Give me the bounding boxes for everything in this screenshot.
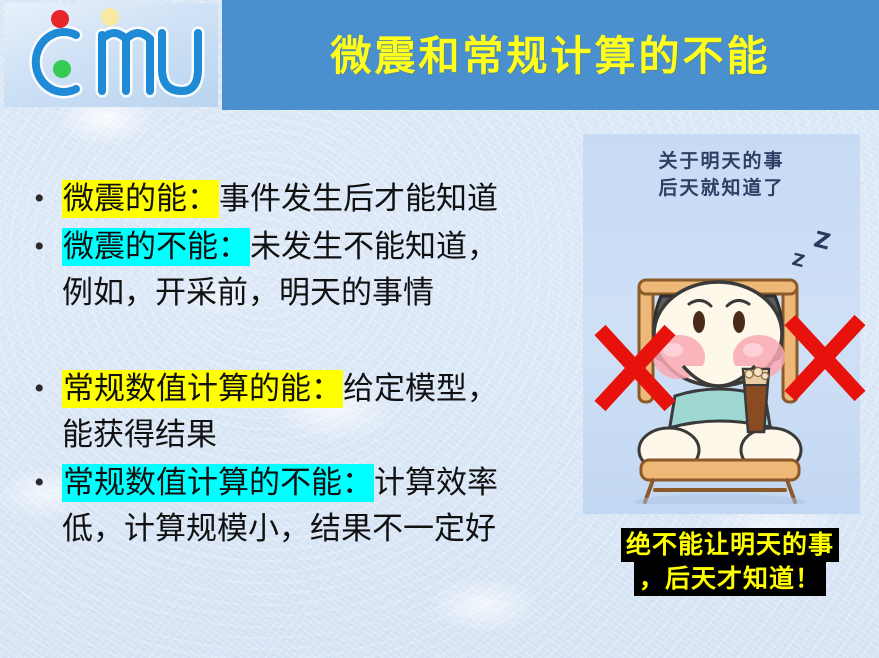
logo-dot-red	[51, 10, 69, 28]
list-item: • 常规数值计算的能：给定模型，能获得结果	[28, 366, 576, 458]
sleepy-dog-illustration	[583, 254, 860, 504]
illustration-caption-line1: 关于明天的事	[583, 148, 860, 175]
chair-shadow	[634, 494, 806, 504]
bullet-label-highlighted: 常规数值计算的能：	[62, 370, 343, 408]
logo-dot-green	[53, 60, 71, 78]
bullet-list: • 微震的能：事件发生后才能知道 • 微震的不能：未发生不能知道，例如，开采前，…	[28, 176, 576, 554]
bullet-text: 常规数值计算的不能：计算效率低，计算规模小，结果不一定好	[62, 460, 576, 552]
bullet-marker-icon: •	[28, 176, 62, 222]
dog-eye-left	[693, 311, 705, 333]
bullet-marker-icon: •	[28, 366, 62, 412]
bullet-group-spacer	[28, 318, 576, 366]
bullet-continuation: 例如，开采前，明天的事情	[62, 275, 434, 311]
logo-dot-yellow	[101, 8, 119, 26]
bullet-continuation: 能获得结果	[62, 417, 217, 453]
bullet-label-highlighted: 常规数值计算的不能：	[62, 464, 374, 502]
illustration-caption: 关于明天的事 后天就知道了	[583, 148, 860, 202]
bullet-rest: 事件发生后才能知道	[219, 181, 498, 217]
bullet-marker-icon: •	[28, 224, 62, 270]
list-item: • 微震的不能：未发生不能知道，例如，开采前，明天的事情	[28, 224, 576, 316]
bullet-continuation: 低，计算规模小，结果不一定好	[62, 511, 496, 547]
cmu-logo-icon	[10, 5, 210, 105]
list-item: • 微震的能：事件发生后才能知道	[28, 176, 576, 222]
sleep-z-large: Z	[811, 227, 833, 255]
dog-eye-right	[733, 311, 745, 333]
bullet-text: 常规数值计算的能：给定模型，能获得结果	[62, 366, 576, 458]
illustration-caption-line2: 后天就知道了	[583, 175, 860, 202]
logo-panel	[4, 3, 218, 107]
bullet-label-highlighted: 微震的不能：	[62, 228, 250, 266]
title-bar: 微震和常规计算的不能	[222, 0, 879, 110]
bottom-caption-line1: 绝不能让明天的事	[621, 528, 839, 562]
bottom-caption: 绝不能让明天的事 ，后天才知道！	[585, 528, 875, 596]
bullet-text: 微震的不能：未发生不能知道，例如，开采前，明天的事情	[62, 224, 576, 316]
bullet-marker-icon: •	[28, 460, 62, 506]
iced-coffee-cup	[743, 368, 769, 433]
bullet-rest: 给定模型，	[343, 371, 498, 407]
illustration-panel: 关于明天的事 后天就知道了 Z Z	[583, 134, 860, 514]
bullet-text: 微震的能：事件发生后才能知道	[62, 176, 576, 222]
bottom-caption-line2: ，后天才知道！	[634, 562, 826, 596]
list-item: • 常规数值计算的不能：计算效率低，计算规模小，结果不一定好	[28, 460, 576, 552]
slide-canvas: 微震和常规计算的不能 • 微震的能：事件发生后才能知道 • 微震的不能：未发生不…	[0, 0, 879, 658]
bullet-rest: 未发生不能知道，	[250, 229, 498, 265]
bullet-rest: 计算效率	[374, 465, 498, 501]
bullet-label-highlighted: 微震的能：	[62, 180, 219, 218]
page-title: 微震和常规计算的不能	[222, 22, 879, 82]
